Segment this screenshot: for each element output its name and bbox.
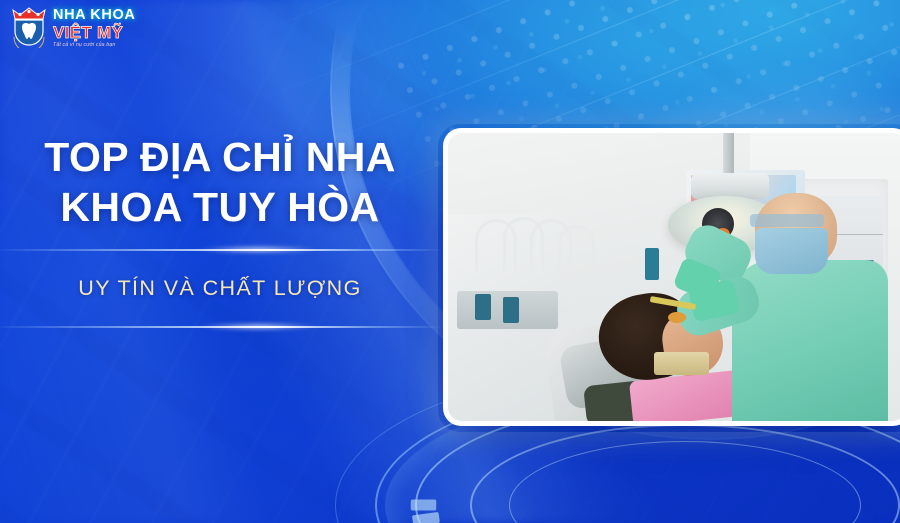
photo-hose-arm (558, 225, 595, 271)
photo-dental-tool (668, 312, 686, 324)
headline-line-2: KHOA TUY HÒA (10, 182, 430, 232)
dental-clinic-banner: NHA KHOA VIỆT MỸ Tất cả vì nụ cười của b… (0, 0, 900, 523)
subheadline: UY TÍN VÀ CHẤT LƯỢNG (0, 276, 440, 301)
headline-line-1: TOP ĐỊA CHỈ NHA (44, 134, 396, 180)
clinic-photo (448, 133, 900, 421)
brand-name-line2: VIỆT MỸ (53, 24, 135, 41)
brand-logo[interactable]: NHA KHOA VIỆT MỸ Tất cả vì nụ cười của b… (9, 6, 135, 48)
photo-dentist-body (732, 260, 888, 421)
hud-ring-4 (509, 441, 861, 523)
crown-shield-tooth-icon (9, 6, 49, 48)
brand-logo-text: NHA KHOA VIỆT MỸ Tất cả vì nụ cười của b… (53, 6, 135, 48)
photo-dentist-glasses (750, 214, 823, 227)
photo-dentist-mask (755, 228, 828, 274)
brand-tagline: Tất cả vì nụ cười của bạn (53, 43, 135, 48)
divider-top (0, 249, 440, 250)
headline-block: TOP ĐỊA CHỈ NHA KHOA TUY HÒA UY TÍN VÀ C… (0, 132, 440, 327)
clinic-photo-card (443, 128, 900, 426)
photo-handpiece (503, 297, 519, 323)
photo-tray (654, 352, 709, 375)
brand-name-line1: NHA KHOA (53, 8, 135, 23)
hud-tick (411, 512, 439, 523)
hud-ring-3 (470, 424, 900, 523)
photo-handpiece (645, 248, 659, 280)
divider-line (0, 249, 440, 251)
photo-handpiece (475, 294, 491, 320)
divider-bottom (0, 326, 440, 327)
divider-line (0, 326, 440, 328)
hud-tick (410, 500, 436, 511)
page-title: TOP ĐỊA CHỈ NHA KHOA TUY HÒA (0, 132, 440, 232)
photo-lamp-hub (691, 173, 769, 199)
